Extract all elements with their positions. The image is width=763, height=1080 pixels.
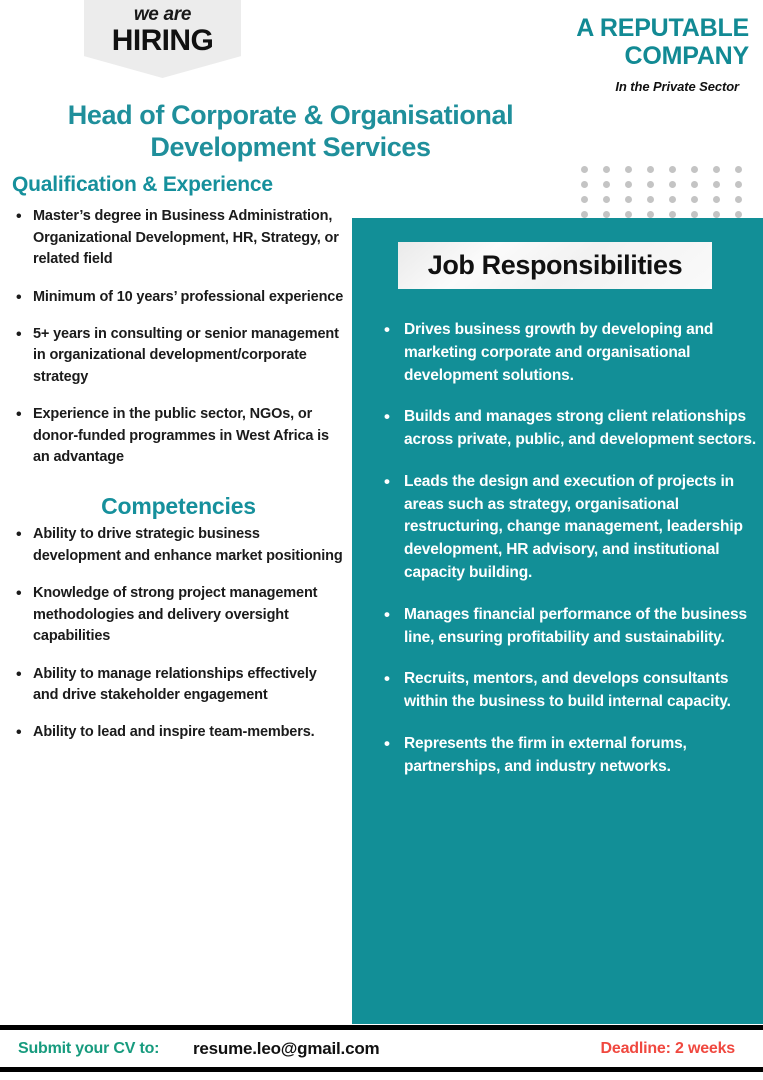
responsibility-item: Recruits, mentors, and develops consulta… [382,668,760,714]
grid-dot [669,211,676,218]
competency-item: Ability to manage relationships effectiv… [12,664,345,707]
footer-inner: Submit your CV to: resume.leo@gmail.com … [0,1030,763,1067]
grid-dot [647,211,654,218]
job-title: Head of Corporate & Organisational Devel… [18,100,563,163]
grid-dot [691,166,698,173]
qualification-item: Minimum of 10 years’ professional experi… [12,287,345,308]
submit-cv-email[interactable]: resume.leo@gmail.com [193,1039,379,1059]
job-responsibilities-panel: Job Responsibilities Drives business gro… [352,218,763,1024]
grid-dot [625,181,632,188]
grid-dot [581,196,588,203]
qualification-heading: Qualification & Experience [12,172,345,197]
responsibility-item: Leads the design and execution of projec… [382,471,760,585]
grid-dot [625,196,632,203]
company-name-line1: A REPUTABLE [419,14,749,42]
submit-cv-label: Submit your CV to: [18,1040,159,1058]
responsibility-item: Manages financial performance of the bus… [382,604,760,650]
dot-grid-decoration [581,166,757,226]
grid-dot [647,181,654,188]
footer-bar: Submit your CV to: resume.leo@gmail.com … [0,1025,763,1072]
grid-dot [713,196,720,203]
grid-dot [603,211,610,218]
responsibility-item: Drives business growth by developing and… [382,319,760,387]
grid-dot [603,181,610,188]
competency-item: Knowledge of strong project management m… [12,583,345,647]
grid-dot [691,196,698,203]
grid-dot [603,166,610,173]
grid-dot [625,211,632,218]
hiring-badge-hiring: HIRING [84,25,241,57]
grid-dot [581,181,588,188]
grid-dot [647,166,654,173]
grid-dot [669,166,676,173]
grid-dot [713,211,720,218]
grid-dot [647,196,654,203]
hiring-badge: we are HIRING [84,0,241,78]
grid-dot [713,166,720,173]
company-tagline: In the Private Sector [419,79,739,94]
grid-dot [735,181,742,188]
deadline-label: Deadline: 2 weeks [601,1040,735,1058]
left-column: Qualification & Experience Master’s degr… [12,172,345,760]
qualification-item: Master’s degree in Business Administrati… [12,206,345,270]
competency-item: Ability to drive strategic business deve… [12,524,345,567]
grid-dot [581,211,588,218]
grid-dot [713,181,720,188]
grid-dot [603,196,610,203]
job-title-line1: Head of Corporate & Organisational [18,100,563,132]
job-responsibilities-title-box: Job Responsibilities [398,242,712,289]
qualification-item: Experience in the public sector, NGOs, o… [12,404,345,468]
responsibility-item: Represents the firm in external forums, … [382,733,760,779]
qualification-item: 5+ years in consulting or senior managem… [12,324,345,388]
grid-dot [691,181,698,188]
grid-dot [735,196,742,203]
grid-dot [735,166,742,173]
grid-dot [669,181,676,188]
job-responsibilities-title: Job Responsibilities [428,250,683,281]
grid-dot [581,166,588,173]
grid-dot [691,211,698,218]
responsibility-item: Builds and manages strong client relatio… [382,406,760,452]
company-name-line2: COMPANY [419,42,749,70]
competency-item: Ability to lead and inspire team-members… [12,722,345,743]
grid-dot [669,196,676,203]
hiring-badge-we-are: we are [84,5,241,26]
competencies-list: Ability to drive strategic business deve… [12,524,345,744]
grid-dot [735,211,742,218]
job-title-line2: Development Services [18,132,563,164]
grid-dot [625,166,632,173]
competencies-heading: Competencies [12,493,345,521]
qualification-list: Master’s degree in Business Administrati… [12,206,345,469]
job-responsibilities-list: Drives business growth by developing and… [382,319,760,798]
company-block: A REPUTABLE COMPANY In the Private Secto… [419,14,749,94]
